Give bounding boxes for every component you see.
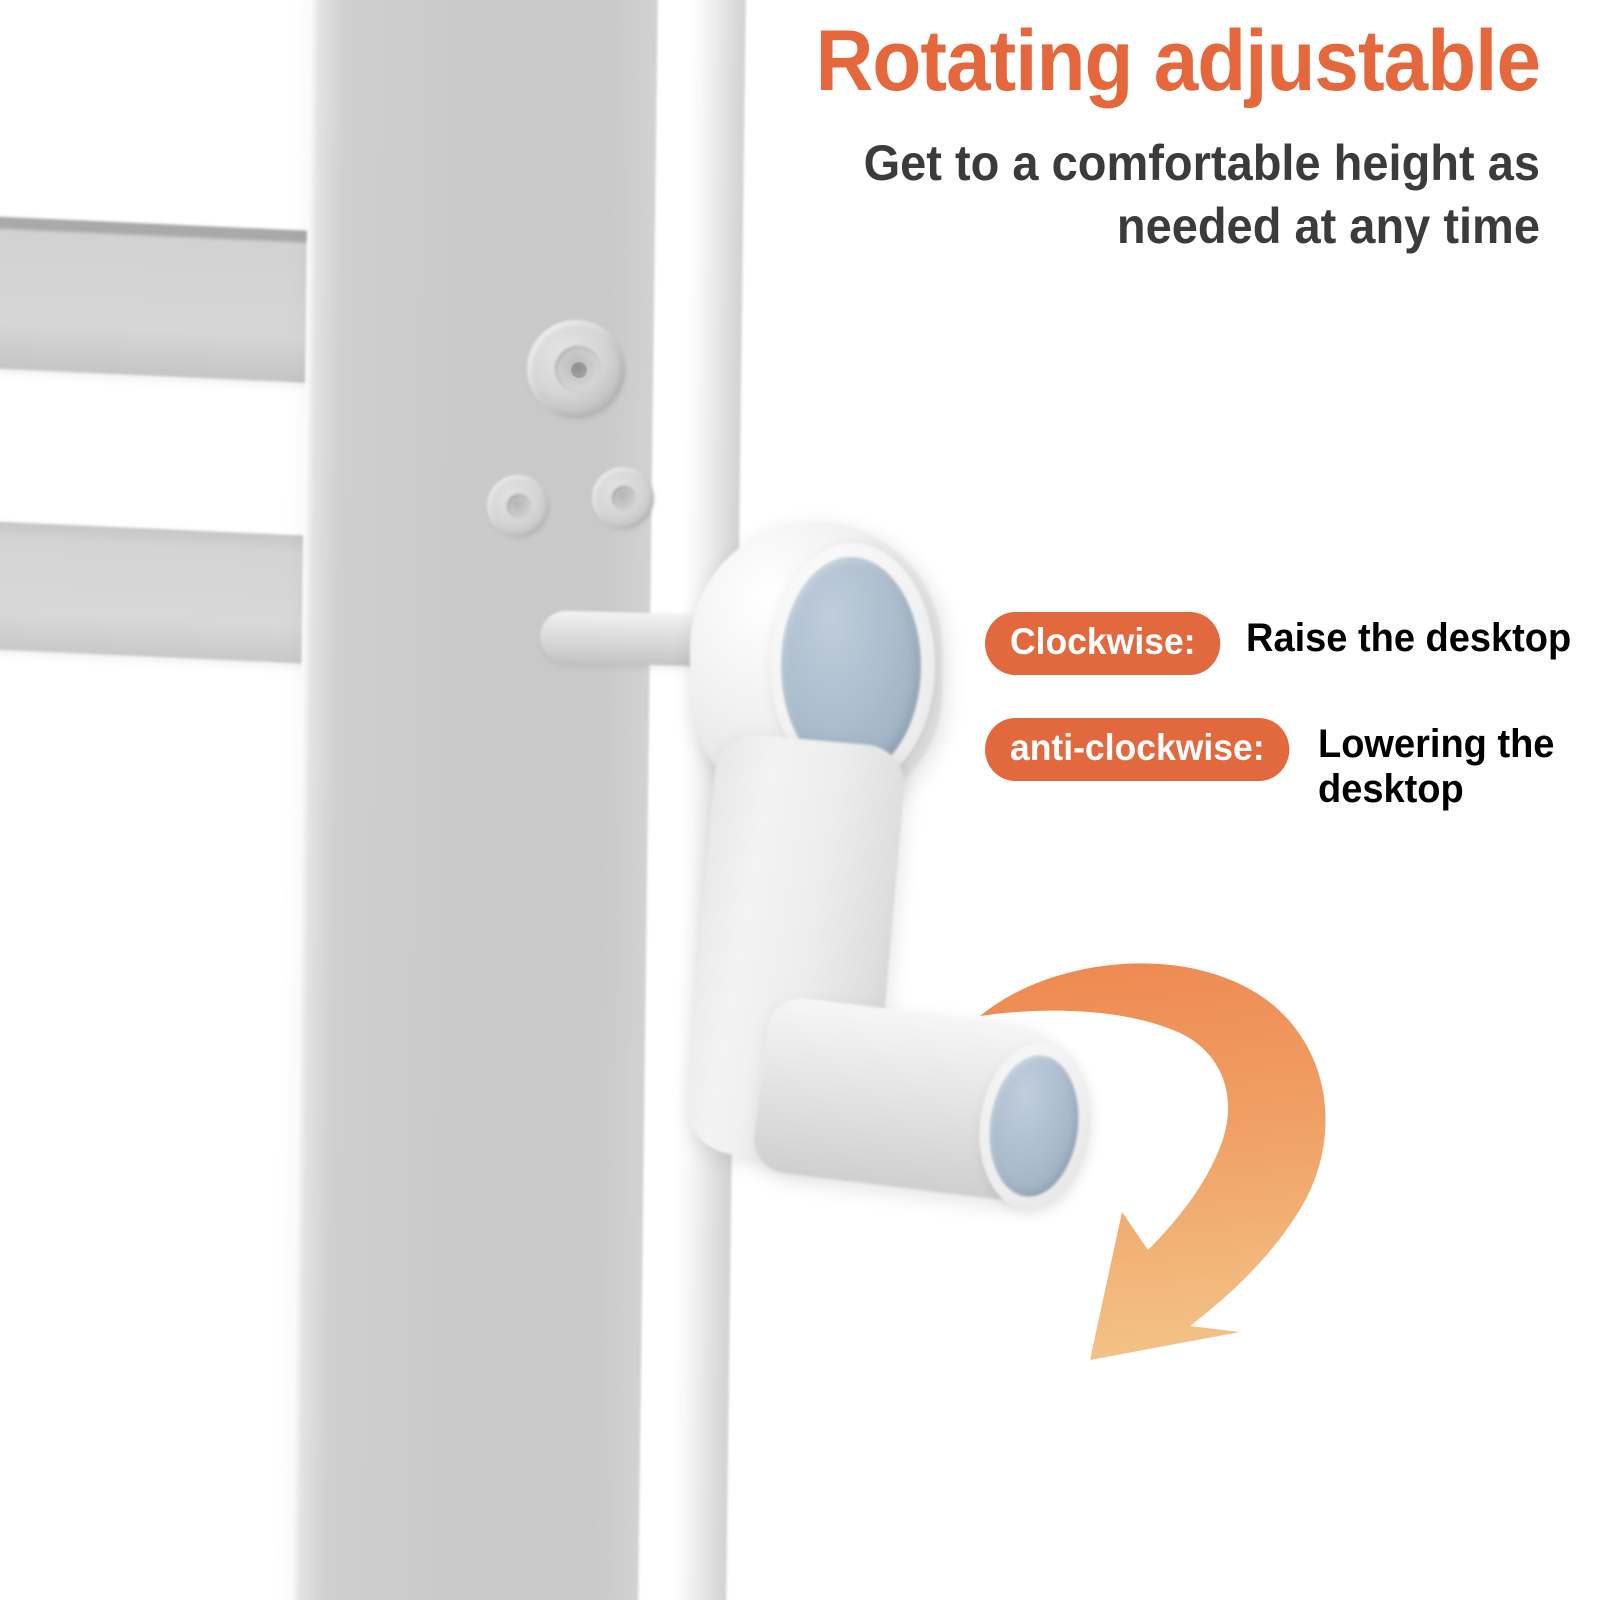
- rotation-arrow-container: [940, 920, 1360, 1360]
- bolt-right: [592, 467, 654, 529]
- page-title: Rotating adjustable: [703, 16, 1540, 107]
- callout-clockwise: Clockwise: Raise the desktop: [985, 612, 1589, 675]
- curved-down-arrow-icon: [940, 920, 1360, 1360]
- pivot-boss: [527, 320, 625, 418]
- callout-anticlockwise-text: Lowering the desktop: [1318, 718, 1600, 812]
- bolt-left: [487, 475, 549, 537]
- badge-clockwise: Clockwise:: [985, 612, 1220, 675]
- callout-clockwise-text: Raise the desktop: [1246, 612, 1571, 661]
- desk-leg-column: [290, 0, 682, 1600]
- page-subtitle: Get to a comfortable height as needed at…: [826, 132, 1540, 258]
- callout-anticlockwise: anti-clockwise: Lowering the desktop: [985, 718, 1600, 812]
- badge-anticlockwise: anti-clockwise:: [985, 718, 1290, 781]
- infographic-canvas: Rotating adjustable Get to a comfortable…: [0, 0, 1600, 1600]
